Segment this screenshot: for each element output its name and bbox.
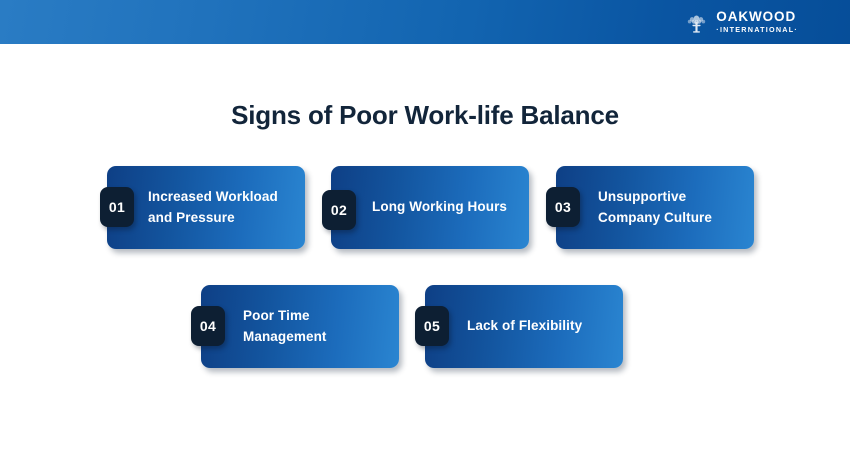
- signs-card-label: Long Working Hours: [372, 197, 522, 218]
- brand-name: OAKWOOD: [716, 10, 798, 24]
- brand-text: OAKWOOD ·INTERNATIONAL·: [716, 10, 798, 33]
- oakwood-logo: OAKWOOD ·INTERNATIONAL·: [684, 10, 798, 35]
- signs-card-01: Increased Workload and Pressure: [107, 166, 305, 249]
- signs-card-02: Long Working Hours: [331, 166, 529, 249]
- signs-card-04: Poor Time Management: [201, 285, 399, 368]
- signs-card-badge-02: 02: [322, 190, 356, 230]
- oak-tree-icon: [684, 10, 709, 35]
- signs-card-label: Unsupportive Company Culture: [598, 187, 746, 228]
- brand-subtitle: ·INTERNATIONAL·: [716, 26, 798, 33]
- signs-card-label: Increased Workload and Pressure: [148, 187, 288, 228]
- signs-card-label: Poor Time Management: [243, 306, 391, 347]
- signs-card-badge-05: 05: [415, 306, 449, 346]
- page-title: Signs of Poor Work-life Balance: [0, 100, 850, 131]
- header-bar: OAKWOOD ·INTERNATIONAL·: [0, 0, 850, 44]
- signs-card-05: Lack of Flexibility: [425, 285, 623, 368]
- signs-card-badge-01: 01: [100, 187, 134, 227]
- signs-card-label: Lack of Flexibility: [467, 316, 617, 337]
- signs-card-03: Unsupportive Company Culture: [556, 166, 754, 249]
- signs-card-badge-04: 04: [191, 306, 225, 346]
- signs-card-badge-03: 03: [546, 187, 580, 227]
